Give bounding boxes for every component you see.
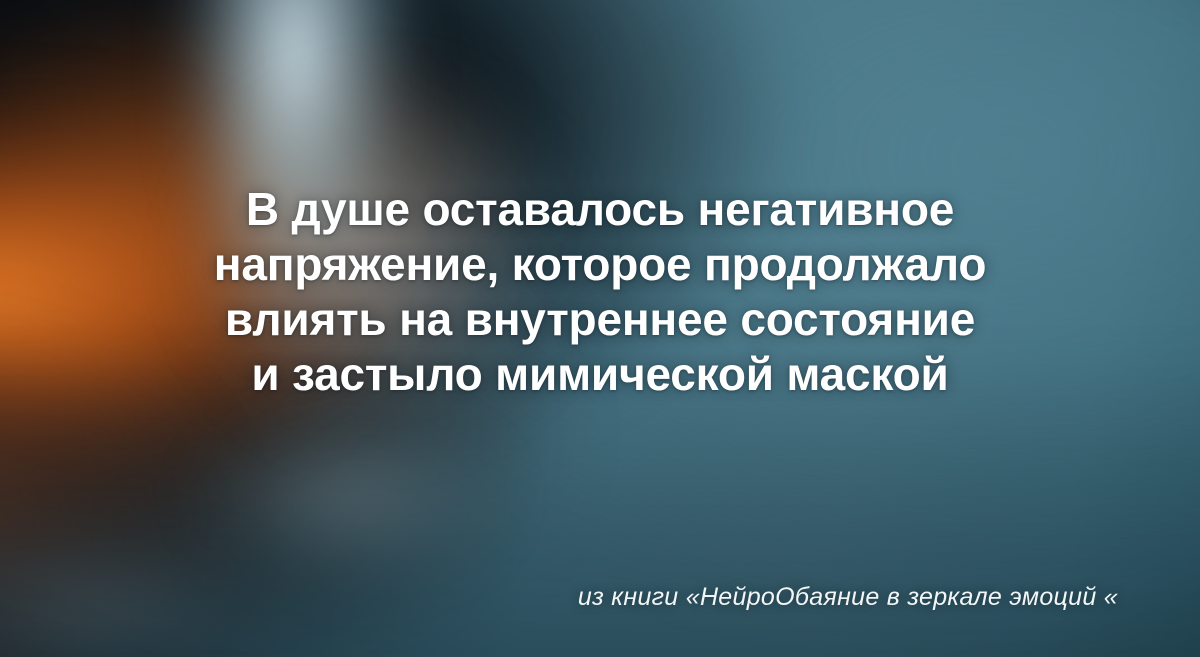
quote-line-2: напряжение, которое продолжало [0, 237, 1200, 292]
attribution-block: из книги «НейроОбаяние в зеркале эмоций … [0, 582, 1118, 612]
quote-text-block: В душе оставалось негативное напряжение,… [0, 182, 1200, 402]
quote-line-1: В душе оставалось негативное [0, 182, 1200, 237]
quote-line-4: и застыло мимической маской [0, 347, 1200, 402]
attribution-source-text: из книги «НейроОбаяние в зеркале эмоций … [578, 583, 1118, 611]
quote-line-3: влиять на внутреннее состояние [0, 292, 1200, 347]
quote-card: В душе оставалось негативное напряжение,… [0, 0, 1200, 657]
